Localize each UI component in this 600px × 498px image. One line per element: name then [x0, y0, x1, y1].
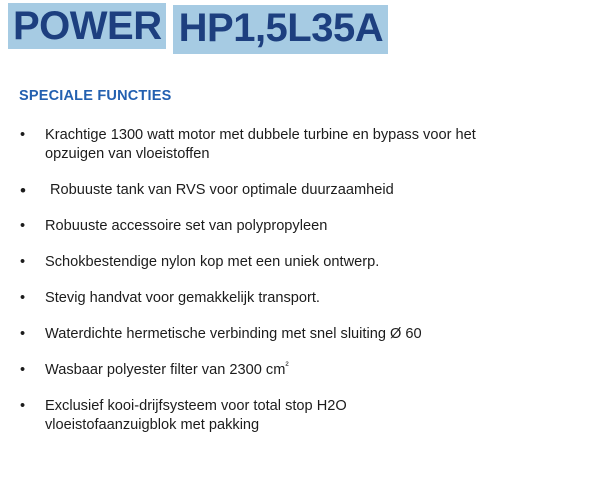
list-item: • Exclusief kooi-drijfsysteem voor total… — [0, 397, 600, 435]
list-item: • Robuuste tank van RVS voor optimale du… — [0, 181, 600, 200]
bullet-icon: • — [20, 361, 30, 380]
list-item: • Wasbaar polyester filter van 2300 cm² — [0, 361, 600, 380]
list-item: • Krachtige 1300 watt motor met dubbele … — [0, 126, 600, 164]
list-item: • Robuuste accessoire set van polypropyl… — [0, 217, 600, 236]
list-item-line: Stevig handvat voor gemakkelijk transpor… — [45, 289, 600, 308]
product-brand: POWER — [8, 3, 166, 49]
list-item-line: Robuuste tank van RVS voor optimale duur… — [50, 181, 600, 200]
list-item-line: Krachtige 1300 watt motor met dubbele tu… — [45, 126, 600, 145]
list-item-line: opzuigen van vloeistoffen — [45, 145, 600, 164]
bullet-icon: • — [20, 289, 30, 308]
list-item-text: Wasbaar polyester filter van 2300 cm — [45, 362, 285, 378]
bullet-icon: • — [20, 126, 30, 145]
product-spec-sheet: POWERHP1,5L35A SPECIALE FUNCTIES • Krach… — [0, 0, 600, 498]
list-item-line: Schokbestendige nylon kop met een uniek … — [45, 253, 600, 272]
bullet-icon: • — [20, 397, 30, 416]
list-item-line: vloeistofaanzuigblok met pakking — [45, 416, 600, 435]
list-item: • Waterdichte hermetische verbinding met… — [0, 325, 600, 344]
product-model: HP1,5L35A — [173, 5, 388, 54]
bullet-icon: • — [20, 253, 30, 272]
list-item: • Schokbestendige nylon kop met een unie… — [0, 253, 600, 272]
product-title: POWERHP1,5L35A — [8, 3, 388, 52]
feature-list: • Krachtige 1300 watt motor met dubbele … — [0, 126, 600, 452]
list-item: • Stevig handvat voor gemakkelijk transp… — [0, 289, 600, 308]
bullet-icon: • — [20, 217, 30, 236]
list-item-line: Exclusief kooi-drijfsysteem voor total s… — [45, 397, 600, 416]
bullet-icon: • — [20, 325, 30, 344]
section-heading-speciale-functies: SPECIALE FUNCTIES — [19, 88, 171, 104]
list-item-line: Wasbaar polyester filter van 2300 cm² — [45, 361, 600, 380]
list-item-line: Waterdichte hermetische verbinding met s… — [45, 325, 600, 344]
superscript-squared: ² — [285, 360, 288, 371]
bullet-icon: • — [20, 181, 30, 200]
list-item-line: Robuuste accessoire set van polypropylee… — [45, 217, 600, 236]
